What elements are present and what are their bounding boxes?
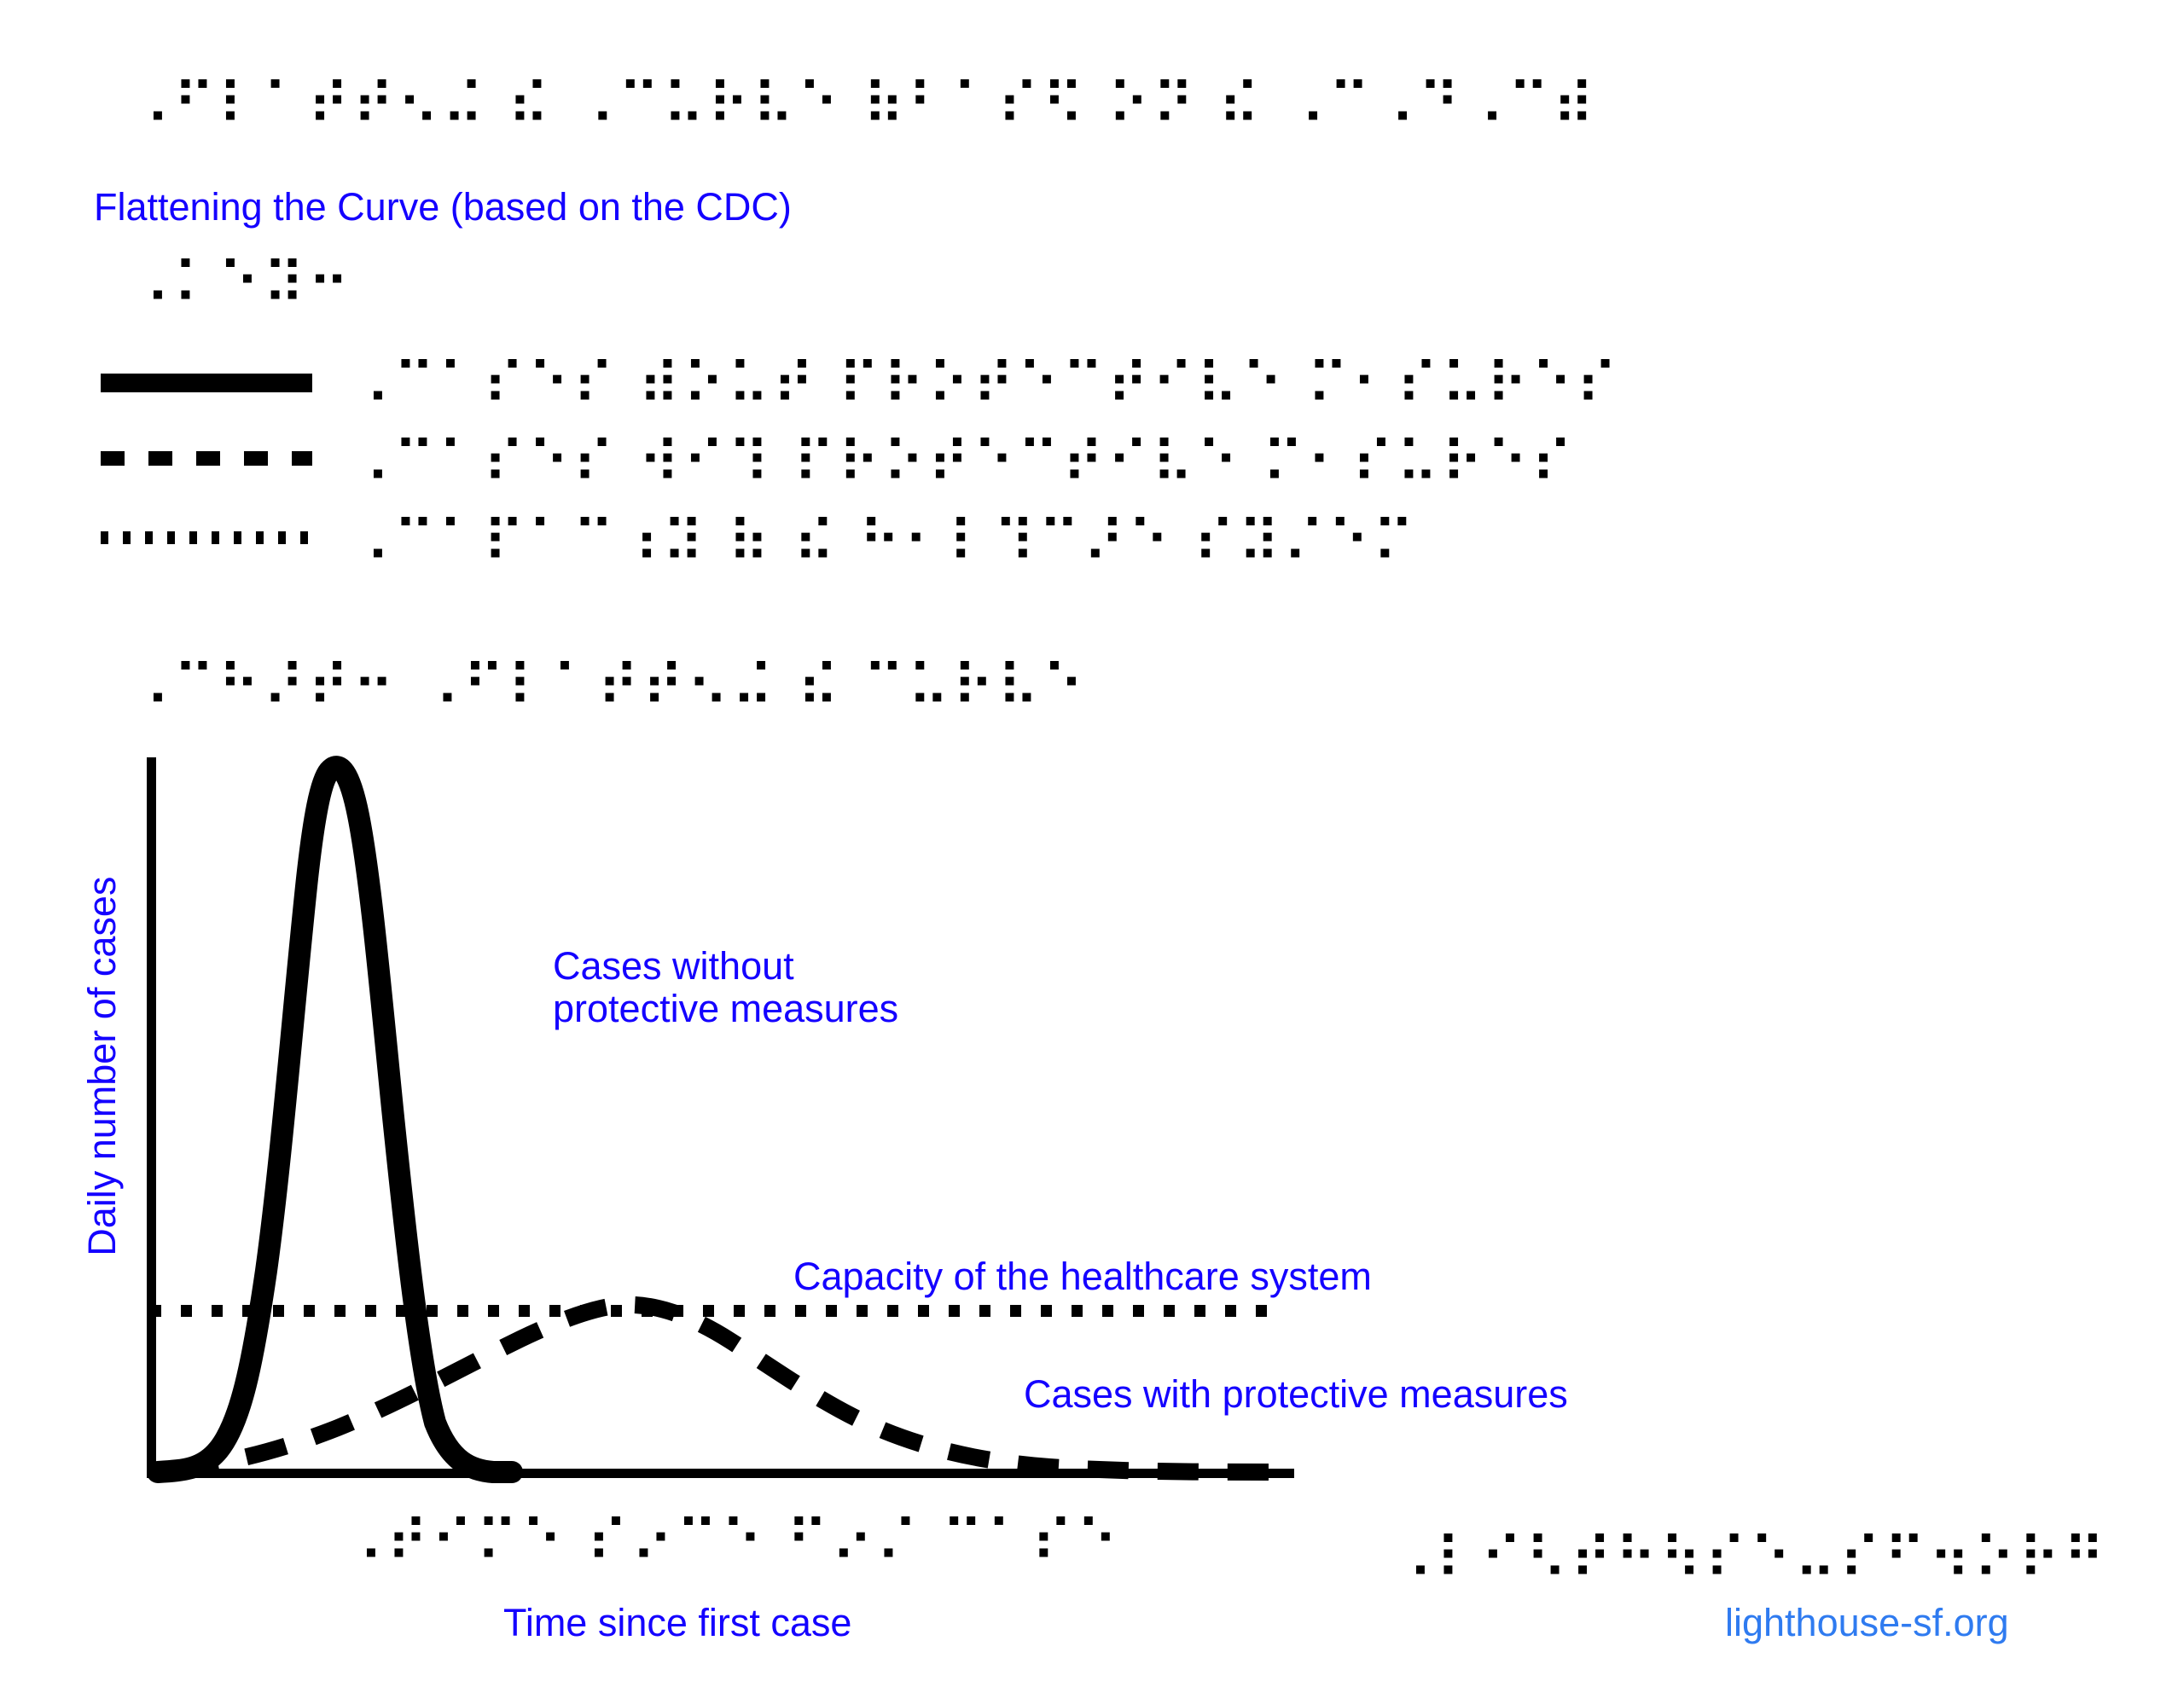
annotation-cases-with-protective-measures: Cases with protective measures <box>1024 1373 1568 1416</box>
annotation-capacity-of-healthcare-system: Capacity of the healthcare system <box>793 1255 1372 1298</box>
flattening-the-curve-chart: Daily number of cases Cases withoutprote… <box>0 0 2184 1687</box>
annotation-line-1: Cases without <box>553 944 794 988</box>
site-url-link[interactable]: lighthouse-sf.org <box>1725 1602 2009 1644</box>
curve-plot-area <box>0 0 2184 1687</box>
chart-y-axis-label: Daily number of cases <box>81 810 124 1322</box>
annotation-cases-without-protective-measures: Cases withoutprotective measures <box>553 945 898 1031</box>
chart-x-axis-label: Time since first case <box>503 1602 851 1644</box>
annotation-line-2: protective measures <box>553 987 898 1030</box>
braille-x-axis-caption: ⠠⠞⠊⠍⠑ ⠎⠔⠉⠑ ⠋⠔⠌ ⠉⠁⠎⠑ <box>341 1514 1120 1572</box>
braille-footer-url: ⠠⠇⠊⠣⠞⠓⠳⠎⠑⠤⠎⠋⠲⠕⠗⠛ <box>1391 1531 2107 1589</box>
